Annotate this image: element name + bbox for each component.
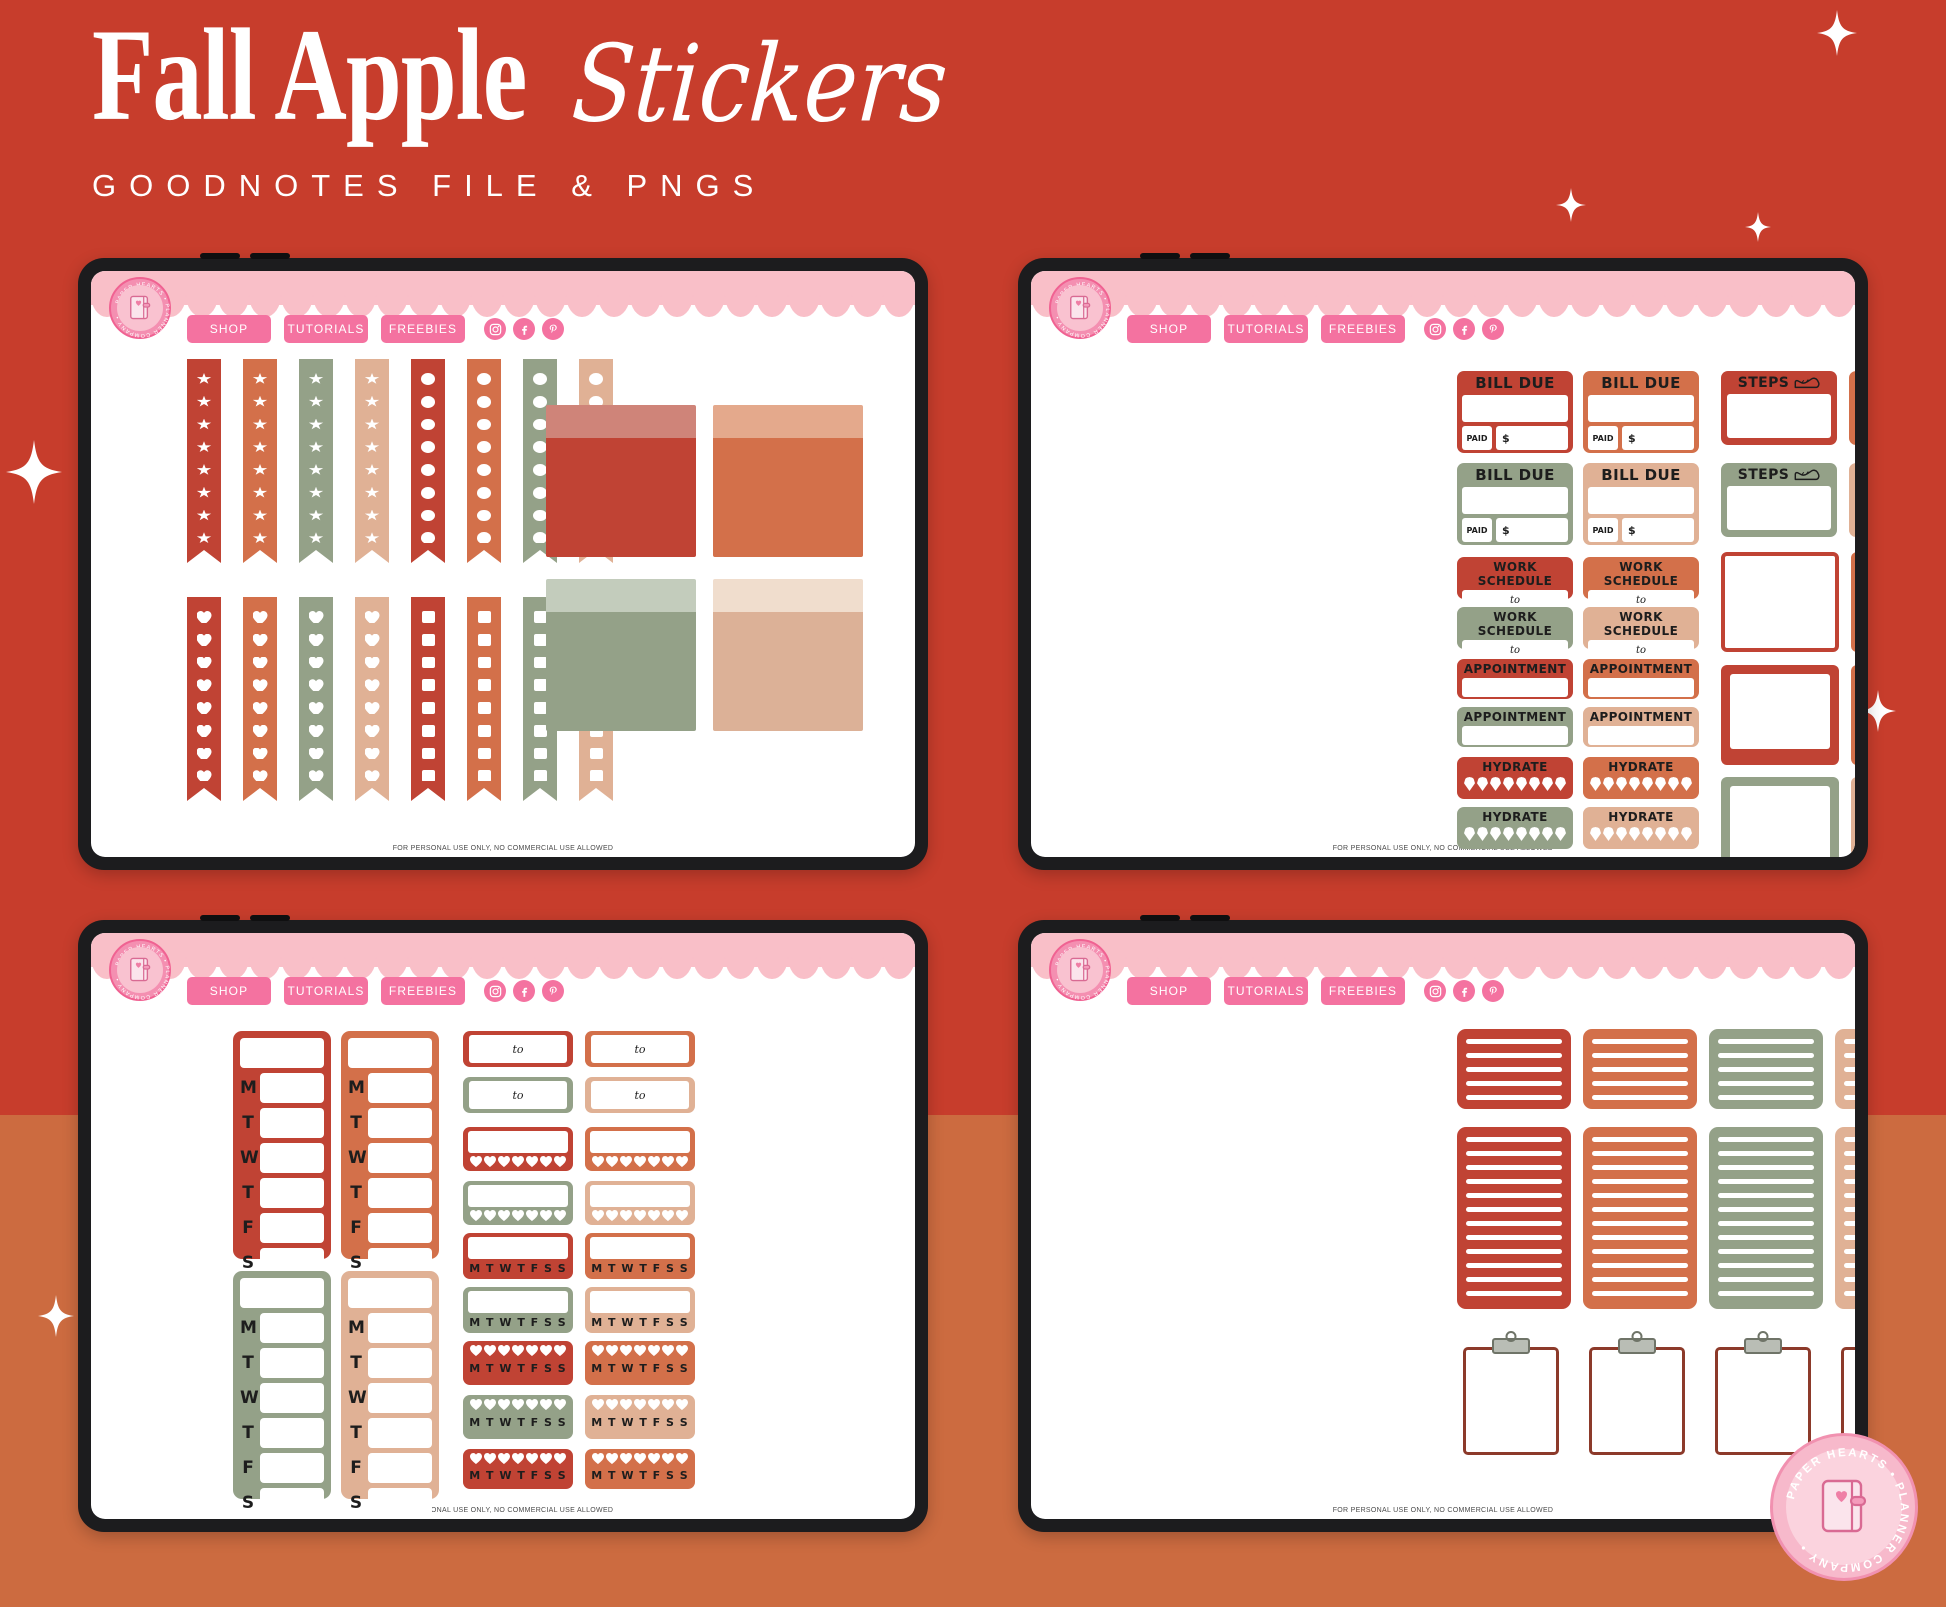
water-drop-icon[interactable] xyxy=(1616,827,1627,841)
heart-icon[interactable] xyxy=(470,1210,482,1221)
water-drop-icon[interactable] xyxy=(1642,827,1653,841)
water-drop-icon[interactable] xyxy=(1516,827,1527,841)
work-schedule-sticker[interactable]: WORK SCHEDULEto xyxy=(1457,607,1573,649)
heart-icon[interactable] xyxy=(592,1156,604,1167)
steps-value-field[interactable] xyxy=(1727,486,1831,530)
paper-hearts-logo[interactable]: PAPER HEARTS • PLANNER COMPANY • xyxy=(1049,939,1111,1001)
heart-icon[interactable] xyxy=(554,1156,566,1167)
water-drop-icon[interactable] xyxy=(1642,777,1653,791)
color-block-tan[interactable] xyxy=(713,579,863,731)
heart-icon[interactable] xyxy=(648,1453,660,1464)
heart-icon[interactable] xyxy=(676,1453,688,1464)
pinterest-icon[interactable] xyxy=(542,980,564,1002)
day-field[interactable] xyxy=(260,1383,324,1413)
pinterest-icon[interactable] xyxy=(1482,980,1504,1002)
day-tracker-field[interactable] xyxy=(468,1291,568,1313)
day-field[interactable] xyxy=(260,1073,324,1103)
day-field[interactable] xyxy=(368,1418,432,1448)
heart-tracker-sticker[interactable]: M T W T F S S xyxy=(585,1341,695,1385)
hydrate-sticker[interactable]: HYDRATE xyxy=(1457,757,1573,799)
heart-icon[interactable] xyxy=(554,1210,566,1221)
nav-tutorials[interactable]: TUTORIALS xyxy=(1224,315,1308,343)
flag-ribbon-sq[interactable] xyxy=(467,597,501,782)
heart-icon[interactable] xyxy=(592,1453,604,1464)
heart-row[interactable] xyxy=(468,1399,568,1410)
lined-note-sticker-small[interactable] xyxy=(1457,1029,1571,1109)
bill-due-sticker[interactable]: BILL DUEPAID$ xyxy=(1583,371,1699,453)
hydrate-drop-row[interactable] xyxy=(1462,827,1568,841)
heart-tracker-sticker[interactable]: M T W T F S S xyxy=(463,1395,573,1439)
hydrate-sticker[interactable]: HYDRATE xyxy=(1583,757,1699,799)
day-tracker-field[interactable] xyxy=(590,1291,690,1313)
water-drop-icon[interactable] xyxy=(1503,777,1514,791)
heart-icon[interactable] xyxy=(676,1156,688,1167)
weekly-checklist-row[interactable]: W xyxy=(240,1383,324,1413)
flag-ribbon-star[interactable] xyxy=(355,359,389,544)
heart-icon[interactable] xyxy=(470,1453,482,1464)
heart-tracker-sticker[interactable] xyxy=(463,1181,573,1225)
nav-freebies[interactable]: FREEBIES xyxy=(1321,977,1405,1005)
heart-icon[interactable] xyxy=(648,1210,660,1221)
weekly-checklist-row[interactable]: M xyxy=(240,1073,324,1103)
nav-tutorials[interactable]: TUTORIALS xyxy=(284,977,368,1005)
heart-tracker-field[interactable] xyxy=(590,1131,690,1153)
appointment-sticker[interactable]: APPOINTMENT xyxy=(1583,707,1699,747)
nav-shop[interactable]: SHOP xyxy=(1127,977,1211,1005)
heart-tracker-field[interactable] xyxy=(590,1185,690,1207)
water-drop-icon[interactable] xyxy=(1603,827,1614,841)
instagram-icon[interactable] xyxy=(1424,980,1446,1002)
nav-shop[interactable]: SHOP xyxy=(187,977,271,1005)
weekly-checklist-row[interactable]: W xyxy=(348,1383,432,1413)
pinterest-icon[interactable] xyxy=(1482,318,1504,340)
appointment-sticker[interactable]: APPOINTMENT xyxy=(1457,659,1573,699)
nav-tutorials[interactable]: TUTORIALS xyxy=(1224,977,1308,1005)
weekly-checklist-row[interactable]: M xyxy=(348,1073,432,1103)
heart-icon[interactable] xyxy=(526,1345,538,1356)
weekly-checklist-row[interactable]: S xyxy=(240,1488,324,1518)
facebook-icon[interactable] xyxy=(1453,980,1475,1002)
weekly-checklist-row[interactable]: T xyxy=(348,1348,432,1378)
water-drop-icon[interactable] xyxy=(1542,827,1553,841)
steps-sticker[interactable]: STEPS xyxy=(1721,371,1837,445)
heart-icon[interactable] xyxy=(620,1399,632,1410)
work-schedule-sticker[interactable]: WORK SCHEDULEto xyxy=(1583,607,1699,649)
to-field[interactable]: to xyxy=(591,1081,689,1109)
heart-icon[interactable] xyxy=(540,1399,552,1410)
bill-due-paid-checkbox[interactable]: PAID xyxy=(1588,518,1618,542)
day-field[interactable] xyxy=(368,1108,432,1138)
to-label-sticker[interactable]: to xyxy=(463,1031,573,1067)
nav-freebies[interactable]: FREEBIES xyxy=(1321,315,1405,343)
heart-icon[interactable] xyxy=(526,1399,538,1410)
appointment-field[interactable] xyxy=(1588,726,1694,745)
heart-icon[interactable] xyxy=(540,1156,552,1167)
heart-icon[interactable] xyxy=(484,1156,496,1167)
heart-tracker-sticker[interactable] xyxy=(463,1127,573,1171)
flag-ribbon-dot[interactable] xyxy=(411,359,445,544)
bill-due-sticker[interactable]: BILL DUEPAID$ xyxy=(1457,463,1573,545)
heart-tracker-sticker[interactable]: M T W T F S S xyxy=(585,1395,695,1439)
instagram-icon[interactable] xyxy=(484,318,506,340)
lined-note-sticker-large[interactable] xyxy=(1835,1127,1855,1309)
to-label-sticker[interactable]: to xyxy=(585,1031,695,1067)
lined-note-sticker-small[interactable] xyxy=(1709,1029,1823,1109)
photo-frame-red-outline[interactable] xyxy=(1721,552,1839,652)
paper-hearts-logo[interactable]: PAPER HEARTS • PLANNER COMPANY • xyxy=(1049,277,1111,339)
heart-tracker-sticker[interactable]: M T W T F S S xyxy=(463,1341,573,1385)
heart-icon[interactable] xyxy=(484,1345,496,1356)
heart-icon[interactable] xyxy=(676,1399,688,1410)
heart-icon[interactable] xyxy=(662,1210,674,1221)
water-drop-icon[interactable] xyxy=(1629,827,1640,841)
day-field[interactable] xyxy=(368,1453,432,1483)
heart-tracker-field[interactable] xyxy=(468,1185,568,1207)
paper-hearts-logo[interactable]: PAPER HEARTS • PLANNER COMPANY • xyxy=(109,939,171,1001)
day-tracker-field[interactable] xyxy=(590,1237,690,1259)
heart-icon[interactable] xyxy=(648,1345,660,1356)
color-block-red[interactable] xyxy=(546,405,696,557)
weekly-checklist-row[interactable]: T xyxy=(348,1418,432,1448)
hydrate-sticker[interactable]: HYDRATE xyxy=(1457,807,1573,849)
appointment-sticker[interactable]: APPOINTMENT xyxy=(1457,707,1573,747)
water-drop-icon[interactable] xyxy=(1590,827,1601,841)
day-field[interactable] xyxy=(260,1453,324,1483)
work-schedule-sticker[interactable]: WORK SCHEDULEto xyxy=(1583,557,1699,599)
heart-icon[interactable] xyxy=(498,1399,510,1410)
heart-icon[interactable] xyxy=(648,1399,660,1410)
heart-icon[interactable] xyxy=(620,1210,632,1221)
color-block-sage[interactable] xyxy=(546,579,696,731)
bill-due-name-field[interactable] xyxy=(1462,487,1568,514)
day-tracker-field[interactable] xyxy=(468,1237,568,1259)
heart-icon[interactable] xyxy=(554,1345,566,1356)
weekly-checklist-row[interactable]: W xyxy=(348,1143,432,1173)
heart-icon[interactable] xyxy=(512,1210,524,1221)
lined-note-sticker-large[interactable] xyxy=(1583,1127,1697,1309)
water-drop-icon[interactable] xyxy=(1616,777,1627,791)
appointment-field[interactable] xyxy=(1588,678,1694,697)
heart-icon[interactable] xyxy=(662,1345,674,1356)
paper-hearts-logo[interactable]: PAPER HEARTS • PLANNER COMPANY • xyxy=(109,277,171,339)
to-field[interactable]: to xyxy=(469,1081,567,1109)
water-drop-icon[interactable] xyxy=(1542,777,1553,791)
heart-icon[interactable] xyxy=(634,1345,646,1356)
heart-icon[interactable] xyxy=(606,1210,618,1221)
photo-frame-sage[interactable] xyxy=(1721,777,1839,857)
weekly-checklist-row[interactable]: T xyxy=(240,1418,324,1448)
day-field[interactable] xyxy=(368,1313,432,1343)
lined-note-sticker-small[interactable] xyxy=(1835,1029,1855,1109)
day-field[interactable] xyxy=(260,1143,324,1173)
work-schedule-time-field[interactable]: to xyxy=(1462,640,1568,660)
day-field[interactable] xyxy=(260,1178,324,1208)
flag-ribbon-star[interactable] xyxy=(243,359,277,544)
flag-ribbon-heart[interactable] xyxy=(299,597,333,782)
heart-icon[interactable] xyxy=(470,1399,482,1410)
clipboard-2[interactable] xyxy=(1589,1347,1685,1455)
heart-icon[interactable] xyxy=(606,1156,618,1167)
weekly-checklist-row[interactable]: T xyxy=(240,1348,324,1378)
heart-icon[interactable] xyxy=(498,1453,510,1464)
water-drop-icon[interactable] xyxy=(1516,777,1527,791)
heart-icon[interactable] xyxy=(662,1156,674,1167)
heart-icon[interactable] xyxy=(662,1453,674,1464)
heart-icon[interactable] xyxy=(512,1156,524,1167)
bill-due-paid-checkbox[interactable]: PAID xyxy=(1462,518,1492,542)
flag-ribbon-heart[interactable] xyxy=(243,597,277,782)
day-field[interactable] xyxy=(368,1383,432,1413)
photo-frame-red[interactable] xyxy=(1721,665,1839,765)
weekly-checklist-row[interactable]: T xyxy=(348,1178,432,1208)
weekly-checklist-row[interactable]: F xyxy=(240,1453,324,1483)
heart-row[interactable] xyxy=(590,1453,690,1464)
hydrate-drop-row[interactable] xyxy=(1588,827,1694,841)
water-drop-icon[interactable] xyxy=(1555,777,1566,791)
flag-ribbon-heart[interactable] xyxy=(187,597,221,782)
heart-row[interactable] xyxy=(590,1156,690,1167)
weekly-checklist-row[interactable]: F xyxy=(348,1213,432,1243)
weekly-checklist-row[interactable]: S xyxy=(348,1488,432,1518)
day-field[interactable] xyxy=(368,1178,432,1208)
heart-icon[interactable] xyxy=(526,1453,538,1464)
heart-row[interactable] xyxy=(590,1399,690,1410)
water-drop-icon[interactable] xyxy=(1490,777,1501,791)
steps-sticker[interactable]: STEPS xyxy=(1849,371,1855,445)
weekly-checklist-sticker[interactable]: MTWTFSS xyxy=(341,1271,439,1499)
heart-icon[interactable] xyxy=(662,1399,674,1410)
instagram-icon[interactable] xyxy=(1424,318,1446,340)
heart-icon[interactable] xyxy=(512,1453,524,1464)
heart-icon[interactable] xyxy=(470,1345,482,1356)
weekly-checklist-row[interactable]: W xyxy=(240,1143,324,1173)
bill-due-sticker[interactable]: BILL DUEPAID$ xyxy=(1583,463,1699,545)
photo-frame-orange[interactable] xyxy=(1851,665,1855,765)
bill-due-name-field[interactable] xyxy=(1462,395,1568,422)
flag-ribbon-dot[interactable] xyxy=(467,359,501,544)
color-block-orange[interactable] xyxy=(713,405,863,557)
facebook-icon[interactable] xyxy=(513,980,535,1002)
steps-sticker[interactable]: STEPS xyxy=(1849,463,1855,537)
bill-due-amount-field[interactable]: $ xyxy=(1496,426,1568,450)
heart-tracker-sticker[interactable] xyxy=(585,1181,695,1225)
heart-icon[interactable] xyxy=(498,1210,510,1221)
heart-icon[interactable] xyxy=(498,1345,510,1356)
weekly-checklist-row[interactable]: F xyxy=(348,1453,432,1483)
water-drop-icon[interactable] xyxy=(1529,777,1540,791)
heart-row[interactable] xyxy=(468,1345,568,1356)
day-tracker-sticker[interactable]: M T W T F S S xyxy=(463,1233,573,1279)
work-schedule-sticker[interactable]: WORK SCHEDULEto xyxy=(1457,557,1573,599)
heart-icon[interactable] xyxy=(512,1399,524,1410)
day-field[interactable] xyxy=(368,1348,432,1378)
clipboard-board[interactable] xyxy=(1589,1347,1685,1455)
water-drop-icon[interactable] xyxy=(1590,777,1601,791)
photo-frame-tan[interactable] xyxy=(1851,777,1855,857)
weekly-checklist-sticker[interactable]: MTWTFSS xyxy=(341,1031,439,1259)
day-field[interactable] xyxy=(260,1348,324,1378)
weekly-checklist-title-field[interactable] xyxy=(240,1278,324,1308)
weekly-checklist-sticker[interactable]: MTWTFSS xyxy=(233,1031,331,1259)
nav-freebies[interactable]: FREEBIES xyxy=(381,315,465,343)
heart-icon[interactable] xyxy=(620,1453,632,1464)
bill-due-paid-checkbox[interactable]: PAID xyxy=(1462,426,1492,450)
heart-icon[interactable] xyxy=(634,1156,646,1167)
lined-note-sticker-small[interactable] xyxy=(1583,1029,1697,1109)
bill-due-amount-field[interactable]: $ xyxy=(1622,518,1694,542)
steps-sticker[interactable]: STEPS xyxy=(1721,463,1837,537)
bill-due-paid-checkbox[interactable]: PAID xyxy=(1588,426,1618,450)
day-field[interactable] xyxy=(260,1313,324,1343)
water-drop-icon[interactable] xyxy=(1490,827,1501,841)
day-field[interactable] xyxy=(368,1073,432,1103)
pinterest-icon[interactable] xyxy=(542,318,564,340)
weekly-checklist-row[interactable]: M xyxy=(240,1313,324,1343)
bill-due-amount-field[interactable]: $ xyxy=(1496,518,1568,542)
nav-shop[interactable]: SHOP xyxy=(1127,315,1211,343)
day-tracker-sticker[interactable]: M T W T F S S xyxy=(585,1449,695,1489)
nav-tutorials[interactable]: TUTORIALS xyxy=(284,315,368,343)
day-tracker-sticker[interactable]: M T W T F S S xyxy=(585,1287,695,1333)
heart-icon[interactable] xyxy=(512,1345,524,1356)
water-drop-icon[interactable] xyxy=(1555,827,1566,841)
heart-tracker-sticker[interactable] xyxy=(585,1127,695,1171)
heart-icon[interactable] xyxy=(540,1453,552,1464)
weekly-checklist-row[interactable]: F xyxy=(240,1213,324,1243)
water-drop-icon[interactable] xyxy=(1503,827,1514,841)
lined-note-sticker-large[interactable] xyxy=(1709,1127,1823,1309)
water-drop-icon[interactable] xyxy=(1477,827,1488,841)
heart-icon[interactable] xyxy=(606,1345,618,1356)
heart-icon[interactable] xyxy=(648,1156,660,1167)
flag-ribbon-heart[interactable] xyxy=(355,597,389,782)
bill-due-name-field[interactable] xyxy=(1588,487,1694,514)
heart-icon[interactable] xyxy=(606,1453,618,1464)
heart-icon[interactable] xyxy=(676,1210,688,1221)
day-field[interactable] xyxy=(260,1418,324,1448)
water-drop-icon[interactable] xyxy=(1529,827,1540,841)
weekly-checklist-sticker[interactable]: MTWTFSS xyxy=(233,1271,331,1499)
heart-icon[interactable] xyxy=(526,1156,538,1167)
heart-row[interactable] xyxy=(468,1210,568,1221)
weekly-checklist-title-field[interactable] xyxy=(240,1038,324,1068)
heart-icon[interactable] xyxy=(592,1399,604,1410)
heart-icon[interactable] xyxy=(606,1399,618,1410)
day-tracker-sticker[interactable]: M T W T F S S xyxy=(585,1233,695,1279)
heart-row[interactable] xyxy=(590,1345,690,1356)
heart-icon[interactable] xyxy=(634,1453,646,1464)
steps-value-field[interactable] xyxy=(1727,394,1831,438)
water-drop-icon[interactable] xyxy=(1681,777,1692,791)
appointment-field[interactable] xyxy=(1462,726,1568,745)
bill-due-name-field[interactable] xyxy=(1588,395,1694,422)
heart-icon[interactable] xyxy=(498,1156,510,1167)
water-drop-icon[interactable] xyxy=(1668,777,1679,791)
lined-note-sticker-large[interactable] xyxy=(1457,1127,1571,1309)
to-field[interactable]: to xyxy=(591,1035,689,1063)
flag-ribbon-star[interactable] xyxy=(187,359,221,544)
bill-due-amount-field[interactable]: $ xyxy=(1622,426,1694,450)
nav-freebies[interactable]: FREEBIES xyxy=(381,977,465,1005)
day-field[interactable] xyxy=(368,1488,432,1518)
heart-tracker-field[interactable] xyxy=(468,1131,568,1153)
weekly-checklist-row[interactable]: T xyxy=(240,1178,324,1208)
to-label-sticker[interactable]: to xyxy=(463,1077,573,1113)
heart-icon[interactable] xyxy=(540,1210,552,1221)
water-drop-icon[interactable] xyxy=(1681,827,1692,841)
heart-icon[interactable] xyxy=(526,1210,538,1221)
heart-icon[interactable] xyxy=(554,1453,566,1464)
heart-icon[interactable] xyxy=(484,1453,496,1464)
hydrate-sticker[interactable]: HYDRATE xyxy=(1583,807,1699,849)
day-field[interactable] xyxy=(368,1143,432,1173)
heart-icon[interactable] xyxy=(634,1210,646,1221)
hydrate-drop-row[interactable] xyxy=(1588,777,1694,791)
facebook-icon[interactable] xyxy=(1453,318,1475,340)
weekly-checklist-row[interactable]: T xyxy=(348,1108,432,1138)
photo-frame-orange-outline[interactable] xyxy=(1851,552,1855,652)
heart-icon[interactable] xyxy=(620,1156,632,1167)
nav-shop[interactable]: SHOP xyxy=(187,315,271,343)
heart-icon[interactable] xyxy=(634,1399,646,1410)
heart-icon[interactable] xyxy=(620,1345,632,1356)
day-field[interactable] xyxy=(260,1488,324,1518)
heart-row[interactable] xyxy=(590,1210,690,1221)
heart-icon[interactable] xyxy=(470,1156,482,1167)
water-drop-icon[interactable] xyxy=(1629,777,1640,791)
clipboard-board[interactable] xyxy=(1463,1347,1559,1455)
weekly-checklist-title-field[interactable] xyxy=(348,1278,432,1308)
water-drop-icon[interactable] xyxy=(1655,777,1666,791)
heart-row[interactable] xyxy=(468,1453,568,1464)
heart-icon[interactable] xyxy=(484,1210,496,1221)
heart-icon[interactable] xyxy=(592,1345,604,1356)
flag-ribbon-star[interactable] xyxy=(299,359,333,544)
work-schedule-time-field[interactable]: to xyxy=(1588,640,1694,660)
appointment-field[interactable] xyxy=(1462,678,1568,697)
weekly-checklist-title-field[interactable] xyxy=(348,1038,432,1068)
day-field[interactable] xyxy=(260,1108,324,1138)
water-drop-icon[interactable] xyxy=(1464,827,1475,841)
instagram-icon[interactable] xyxy=(484,980,506,1002)
to-label-sticker[interactable]: to xyxy=(585,1077,695,1113)
water-drop-icon[interactable] xyxy=(1655,827,1666,841)
flag-ribbon-sq[interactable] xyxy=(411,597,445,782)
to-field[interactable]: to xyxy=(469,1035,567,1063)
water-drop-icon[interactable] xyxy=(1477,777,1488,791)
day-field[interactable] xyxy=(368,1213,432,1243)
heart-icon[interactable] xyxy=(592,1210,604,1221)
heart-icon[interactable] xyxy=(676,1345,688,1356)
weekly-checklist-row[interactable]: T xyxy=(240,1108,324,1138)
day-tracker-sticker[interactable]: M T W T F S S xyxy=(463,1449,573,1489)
heart-icon[interactable] xyxy=(540,1345,552,1356)
bill-due-sticker[interactable]: BILL DUEPAID$ xyxy=(1457,371,1573,453)
heart-icon[interactable] xyxy=(554,1399,566,1410)
heart-row[interactable] xyxy=(468,1156,568,1167)
clipboard-1[interactable] xyxy=(1463,1347,1559,1455)
appointment-sticker[interactable]: APPOINTMENT xyxy=(1583,659,1699,699)
day-field[interactable] xyxy=(260,1213,324,1243)
water-drop-icon[interactable] xyxy=(1668,827,1679,841)
water-drop-icon[interactable] xyxy=(1603,777,1614,791)
weekly-checklist-row[interactable]: M xyxy=(348,1313,432,1343)
day-tracker-sticker[interactable]: M T W T F S S xyxy=(463,1287,573,1333)
water-drop-icon[interactable] xyxy=(1464,777,1475,791)
heart-icon[interactable] xyxy=(484,1399,496,1410)
hydrate-drop-row[interactable] xyxy=(1462,777,1568,791)
facebook-icon[interactable] xyxy=(513,318,535,340)
